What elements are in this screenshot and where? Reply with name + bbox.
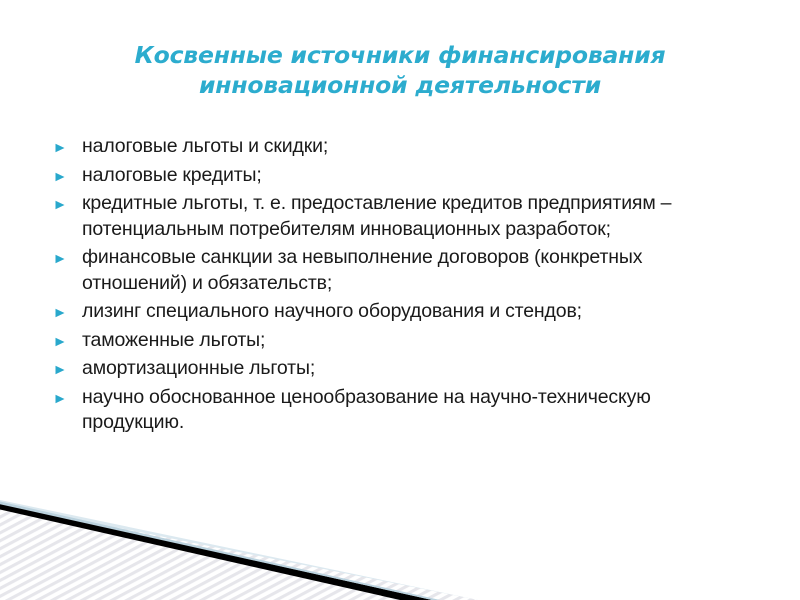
triangle-right-icon [55,356,82,375]
title-line-1: Косвенные источники финансирования [100,40,700,70]
triangle-right-icon [55,134,82,153]
blue-hairline [0,502,440,600]
bullet-list: налоговые льготы и скидки; налоговые кре… [55,134,715,439]
blue-diagonal-band [0,500,478,600]
list-item: кредитные льготы, т. е. предоставление к… [55,191,715,242]
list-item-label: финансовые санкции за невыполнение догов… [82,245,715,296]
slide-canvas: Косвенные источники финансирования иннов… [0,0,800,600]
triangle-right-icon [55,191,82,210]
list-item-label: лизинг специального научного оборудовани… [82,299,715,325]
list-item-label: кредитные льготы, т. е. предоставление к… [82,191,715,242]
list-item: научно обоснованное ценообразование на н… [55,385,715,436]
list-item: налоговые льготы и скидки; [55,134,715,160]
list-item-label: таможенные льготы; [82,328,715,354]
triangle-right-icon [55,385,82,404]
triangle-right-icon [55,299,82,318]
list-item-label: амортизационные льготы; [82,356,715,382]
triangle-right-icon [55,328,82,347]
triangle-right-icon [55,245,82,264]
title-line-2: инновационной деятельности [100,70,700,100]
list-item-label: налоговые кредиты; [82,163,715,189]
list-item-label: налоговые льготы и скидки; [82,134,715,160]
page-title: Косвенные источники финансирования иннов… [100,40,700,100]
list-item: амортизационные льготы; [55,356,715,382]
list-item: финансовые санкции за невыполнение догов… [55,245,715,296]
list-item-label: научно обоснованное ценообразование на н… [82,385,715,436]
list-item: таможенные льготы; [55,328,715,354]
list-item: налоговые кредиты; [55,163,715,189]
triangle-right-icon [55,163,82,182]
hatched-triangle [0,495,800,600]
list-item: лизинг специального научного оборудовани… [55,299,715,325]
black-diagonal-stroke [0,504,432,600]
